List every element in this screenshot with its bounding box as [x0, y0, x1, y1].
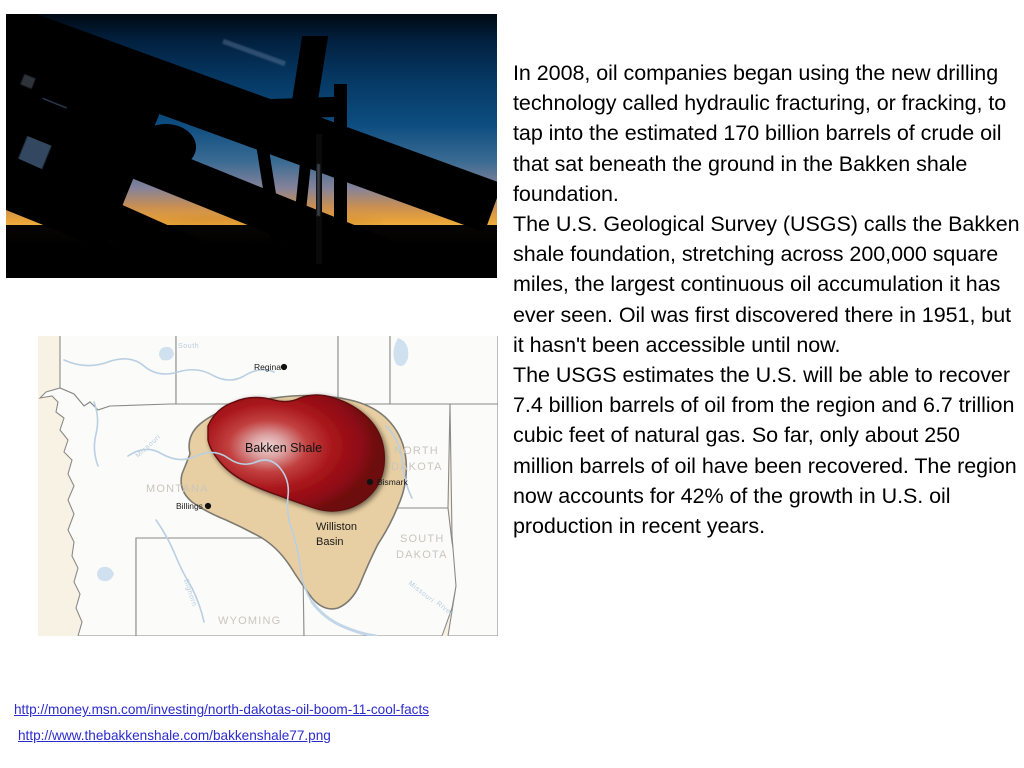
city-label-bismark: Bismark — [377, 477, 408, 487]
state-label-north-dakota-1: NORTH — [394, 445, 439, 457]
paragraph-usgs-recoverable-estimates: The USGS estimates the U.S. will be able… — [513, 360, 1021, 541]
oil-pumpjack-photo — [6, 14, 497, 278]
state-label-south-dakota-2: DAKOTA — [396, 549, 448, 561]
bakken-shale-label: Bakken Shale — [245, 441, 322, 455]
source-links-group: http://money.msn.com/investing/north-dak… — [0, 697, 600, 749]
paragraph-fracking-2008: In 2008, oil companies began using the n… — [513, 58, 1021, 209]
article-text-block: In 2008, oil companies began using the n… — [513, 58, 1021, 541]
pumpjack-pivot-hub-silhouette — [136, 124, 196, 170]
msn-article-link[interactable]: http://money.msn.com/investing/north-dak… — [0, 697, 600, 723]
polished-rod-highlight — [317, 164, 320, 216]
bakken-shale-map: South Missouri Bighorn Missouri River MO… — [38, 336, 498, 636]
state-label-south-dakota-1: SOUTH — [400, 533, 445, 545]
pumpjack-wellhead-post-silhouette — [334, 84, 347, 274]
city-dot-bismark — [367, 479, 373, 485]
state-minnesota-sliver — [448, 404, 498, 636]
city-label-billings: Billings — [176, 501, 203, 511]
city-label-regina: Regina — [254, 362, 281, 372]
paragraph-usgs-largest-accumulation: The U.S. Geological Survey (USGS) calls … — [513, 209, 1021, 360]
city-dot-billings — [205, 503, 211, 509]
river-label-south: South — [178, 343, 199, 350]
city-dot-regina — [281, 364, 287, 370]
williston-basin-label-line2: Basin — [316, 536, 344, 548]
state-label-north-dakota-2: DAKOTA — [391, 461, 443, 473]
bakkenshale-image-link[interactable]: http://www.thebakkenshale.com/bakkenshal… — [0, 723, 600, 749]
state-label-wyoming: WYOMING — [218, 615, 281, 627]
state-label-montana: MONTANA — [146, 483, 209, 495]
williston-basin-label-line1: Williston — [316, 521, 357, 533]
